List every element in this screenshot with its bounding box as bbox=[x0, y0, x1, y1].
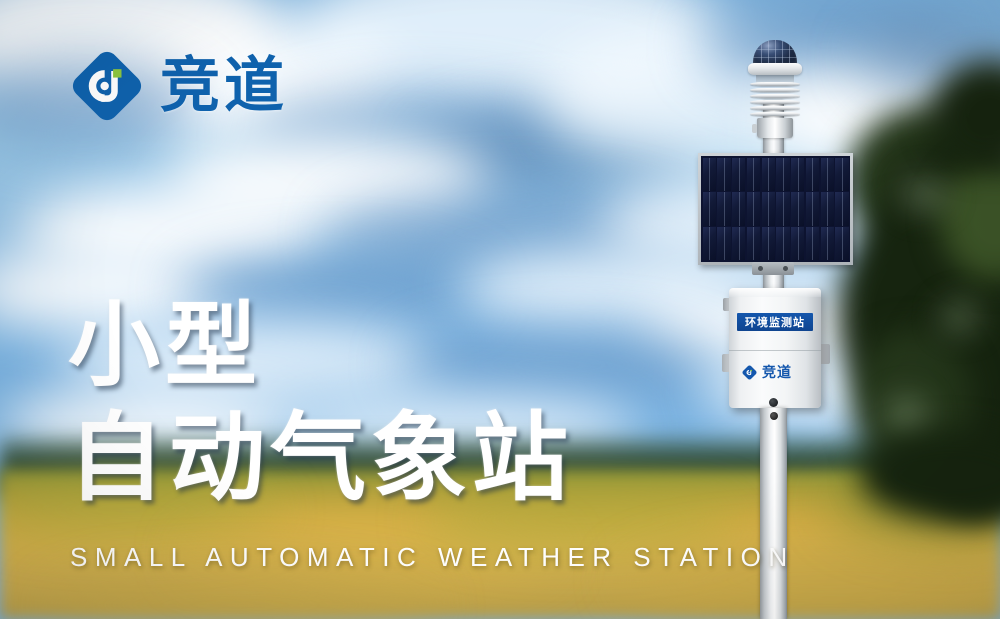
sensor-clip bbox=[752, 124, 757, 133]
mast-pole-lower bbox=[760, 408, 787, 619]
control-box-seam bbox=[729, 350, 821, 351]
mast-bolt-lower bbox=[770, 412, 778, 420]
headline-subtitle: SMALL AUTOMATIC WEATHER STATION bbox=[70, 542, 795, 573]
control-box: 环境监测站 竞道 bbox=[729, 288, 821, 408]
solar-cell-grid bbox=[701, 156, 850, 262]
sensor-base bbox=[757, 118, 793, 138]
control-box-bevel bbox=[729, 288, 821, 297]
control-box-brand: 竞道 bbox=[741, 364, 792, 381]
jingdao-diamond-logo-icon bbox=[741, 364, 758, 381]
solar-panel-icon bbox=[698, 153, 853, 265]
control-box-banner: 环境监测站 bbox=[737, 313, 813, 331]
solar-panel-bracket bbox=[752, 262, 794, 275]
jingdao-diamond-logo-icon bbox=[68, 47, 146, 125]
brand-logo[interactable]: 竞道 bbox=[68, 47, 288, 125]
control-box-lug-right bbox=[820, 344, 830, 364]
radiation-shield-icon bbox=[750, 82, 800, 120]
headline-line-1: 小型 bbox=[68, 300, 573, 392]
sensor-cap bbox=[748, 63, 802, 75]
mast-bolt bbox=[769, 398, 778, 407]
control-box-banner-label: 环境监测站 bbox=[745, 317, 805, 328]
brand-name: 竞道 bbox=[160, 56, 288, 116]
weather-station-banner: 环境监测站 竞道 bbox=[0, 0, 1000, 619]
headline-block: 小型 自动气象站 bbox=[68, 300, 573, 506]
control-box-brand-label: 竞道 bbox=[762, 366, 792, 380]
headline-line-2: 自动气象站 bbox=[68, 410, 573, 506]
